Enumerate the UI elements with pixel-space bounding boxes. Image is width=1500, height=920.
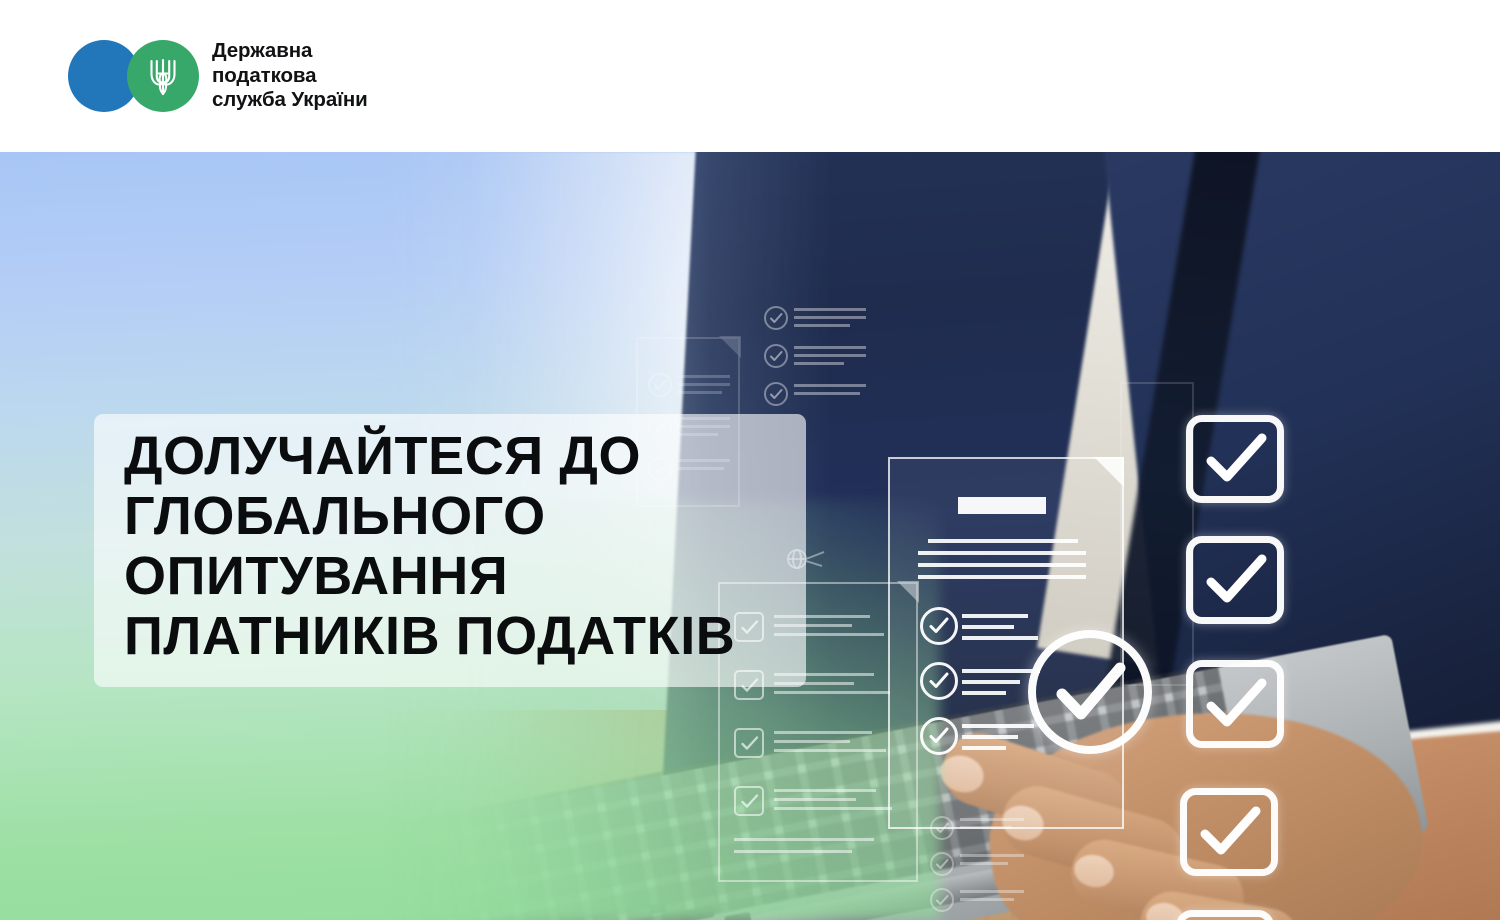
headline-line-3: ОПИТУВАННЯ <box>124 546 735 606</box>
headline-line-1: ДОЛУЧАЙТЕСЯ ДО <box>124 426 735 486</box>
organization-name: Державна податкова служба України <box>212 39 368 113</box>
green-circle-icon <box>127 40 199 112</box>
ukrainian-trident-icon <box>145 54 181 98</box>
org-name-line-1: Державна <box>212 39 368 64</box>
organization-logo[interactable]: Державна податкова служба України <box>68 36 368 116</box>
org-name-line-3: служба України <box>212 88 368 113</box>
site-header: Державна податкова служба України <box>0 0 1500 152</box>
org-name-line-2: податкова <box>212 64 368 89</box>
banner-page: Державна податкова служба України <box>0 0 1500 920</box>
logo-marks <box>68 36 200 116</box>
headline-line-2: ГЛОБАЛЬНОГО <box>124 486 735 546</box>
headline-line-4: ПЛАТНИКІВ ПОДАТКІВ <box>124 606 735 666</box>
page-title: ДОЛУЧАЙТЕСЯ ДО ГЛОБАЛЬНОГО ОПИТУВАННЯ ПЛ… <box>124 426 735 666</box>
banner-hero: ДОЛУЧАЙТЕСЯ ДО ГЛОБАЛЬНОГО ОПИТУВАННЯ ПЛ… <box>0 152 1500 920</box>
